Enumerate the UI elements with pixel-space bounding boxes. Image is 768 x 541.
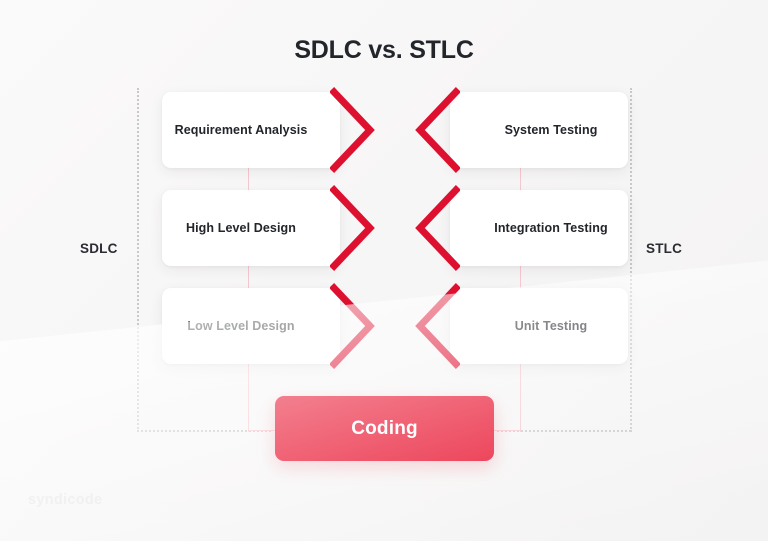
side-label-stlc: STLC — [646, 241, 682, 256]
stlc-stage-integration-testing[interactable]: Integration Testing — [450, 190, 628, 266]
stage-label: Unit Testing — [450, 319, 628, 333]
center-node-coding[interactable]: Coding — [275, 396, 494, 461]
side-label-sdlc: SDLC — [80, 241, 118, 256]
sdlc-stage-high-level-design[interactable]: High Level Design — [162, 190, 340, 266]
sdlc-stage-requirement-analysis[interactable]: Requirement Analysis — [162, 92, 340, 168]
syndicode-watermark-logo: syndicode — [28, 492, 102, 508]
dotted-boundary-right-vertical — [630, 88, 632, 432]
stage-label: System Testing — [450, 123, 628, 137]
stage-label: Integration Testing — [450, 221, 628, 235]
stage-label: High Level Design — [162, 221, 340, 235]
coding-label: Coding — [351, 418, 418, 440]
stlc-stage-unit-testing[interactable]: Unit Testing — [450, 288, 628, 364]
sdlc-stage-low-level-design[interactable]: Low Level Design — [162, 288, 340, 364]
page-title: SDLC vs. STLC — [0, 36, 768, 65]
diagram-canvas: SDLC vs. STLC SDLC STLC Requirement Anal… — [0, 0, 768, 541]
stlc-stage-system-testing[interactable]: System Testing — [450, 92, 628, 168]
dotted-boundary-left-vertical — [137, 88, 139, 432]
stage-label: Low Level Design — [162, 319, 340, 333]
stage-label: Requirement Analysis — [162, 123, 340, 137]
